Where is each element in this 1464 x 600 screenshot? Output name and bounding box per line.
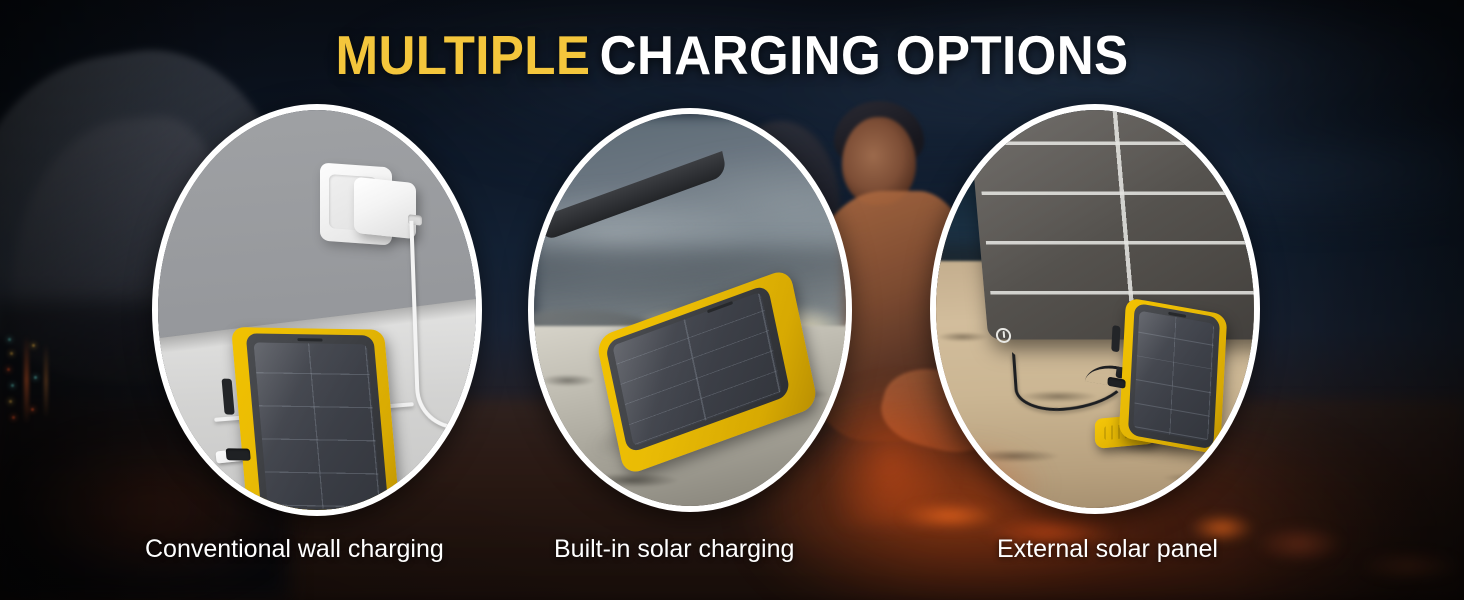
power-bank-bezel — [245, 333, 389, 510]
card-wall-charging[interactable] — [152, 104, 482, 516]
built-in-solar-panel — [254, 342, 381, 509]
power-bank-body — [231, 327, 401, 510]
caption-built-in-solar: Built-in solar charging — [554, 537, 794, 562]
caption-wall-charging: Conventional wall charging — [145, 537, 444, 562]
usb-wall-adapter — [354, 177, 416, 240]
caption-external-panel: External solar panel — [997, 537, 1218, 562]
ambient-fire-glow — [936, 405, 1095, 508]
card-external-panel-image — [936, 110, 1254, 508]
card-wall-charging-image — [158, 110, 476, 510]
card-external-panel[interactable] — [930, 104, 1260, 514]
power-bank-body — [1119, 297, 1228, 455]
headline-main: CHARGING OPTIONS — [600, 24, 1129, 86]
marketing-banner: MULTIPLECHARGING OPTIONS — [0, 0, 1464, 600]
external-solar-panel — [967, 110, 1254, 340]
device-side-button — [1111, 325, 1120, 352]
solar-power-bank — [231, 327, 401, 510]
card-built-in-solar-image — [534, 114, 846, 506]
power-button-icon — [995, 328, 1011, 343]
white-usb-cable — [409, 219, 462, 430]
device-charging-port — [226, 448, 251, 460]
solar-power-bank — [1119, 297, 1228, 455]
device-speaker-slot — [297, 339, 323, 342]
headline-accent: MULTIPLE — [335, 24, 590, 86]
card-built-in-solar[interactable] — [528, 108, 852, 512]
power-bank-bezel — [1128, 303, 1220, 449]
page-title: MULTIPLECHARGING OPTIONS — [51, 28, 1413, 83]
built-in-solar-panel — [1133, 310, 1214, 441]
